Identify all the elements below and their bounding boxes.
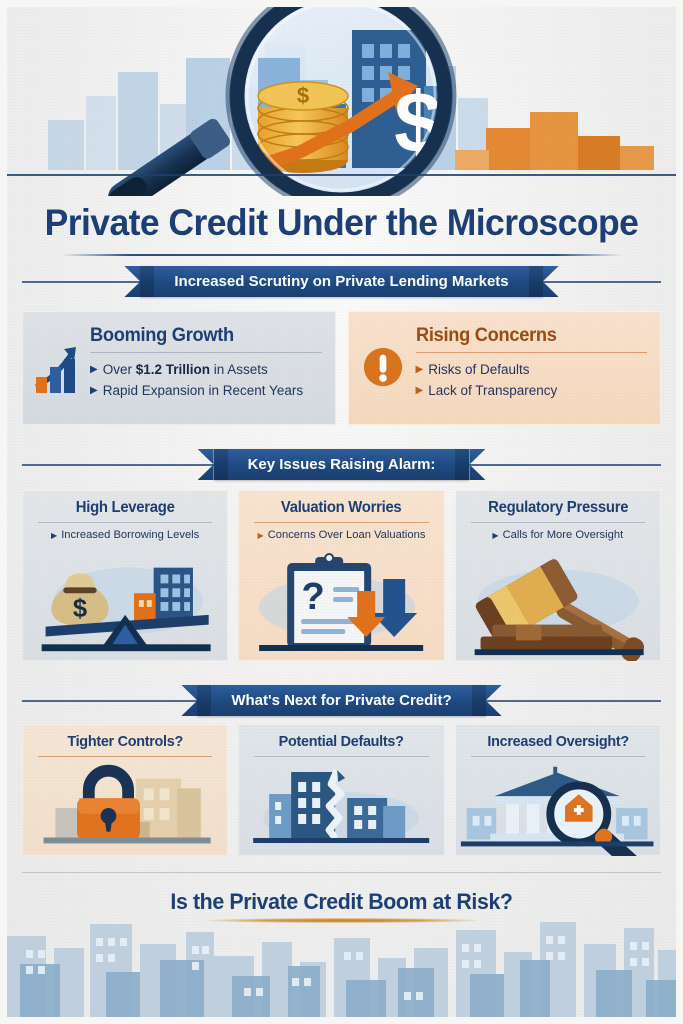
outlook-banner: What's Next for Private Credit? (197, 685, 485, 716)
bank-magnifier-icon (455, 764, 661, 856)
banner-line-left (22, 464, 214, 466)
svg-text:$: $ (73, 595, 87, 623)
card-divider (90, 352, 322, 353)
bullet-text: Rapid Expansion in Recent Years (103, 381, 303, 402)
card-bullet: ▶ Over $1.2 Trillion in Assets (90, 360, 322, 381)
bullet-triangle-icon: ▶ (416, 381, 424, 402)
infographic-page: $ $ Private Credit Under the Microscope … (0, 0, 683, 1024)
footer-divider (22, 872, 661, 873)
footer-underline-swoosh (207, 918, 477, 923)
panel-divider (38, 522, 212, 523)
outlook-title: Potential Defaults? (250, 733, 433, 750)
subtitle-banner-row: Increased Scrutiny on Private Lending Ma… (0, 266, 683, 297)
bullet-text: Risks of Defaults (428, 360, 529, 381)
bullet-text-strong: $1.2 Trillion (136, 362, 210, 377)
summary-cards: Booming Growth ▶ Over $1.2 Trillion in A… (0, 297, 683, 425)
banner-notch-left (214, 449, 228, 480)
bullet-triangle-icon: ▶ (492, 531, 498, 540)
bullet-text: Lack of Transparency (428, 381, 557, 402)
bar-chart-growth-icon (34, 325, 80, 411)
outlook-cards: Tighter Controls? (0, 716, 683, 856)
panel-title: Regulatory Pressure (468, 499, 647, 517)
footer-block: Is the Private Credit Boom at Risk? (0, 889, 683, 923)
title-underline (62, 254, 622, 256)
footer-city-skyline-icon (0, 914, 683, 1024)
card-rising-concerns: Rising Concerns ▶ Risks of Defaults ▶ La… (348, 311, 662, 425)
bullet-triangle-icon: ▶ (416, 360, 424, 381)
money-bag-seesaw-icon: $ (22, 549, 228, 661)
banner-notch-left (197, 685, 211, 716)
panel-bullet-text: Concerns Over Loan Valuations (268, 529, 426, 541)
panel-title: High Leverage (36, 499, 215, 517)
svg-text:?: ? (302, 576, 325, 618)
outlook-increased-oversight: Increased Oversight? (455, 724, 661, 856)
panel-bullet: ▶ Concerns Over Loan Valuations (248, 529, 434, 541)
key-issues-banner-row: Key Issues Raising Alarm: (0, 425, 683, 480)
outlook-banner-row: What's Next for Private Credit? (0, 661, 683, 716)
outlook-tighter-controls: Tighter Controls? (22, 724, 228, 856)
panel-bullet: ▶ Calls for More Oversight (465, 529, 651, 541)
title-block: Private Credit Under the Microscope (0, 202, 683, 256)
bullet-text-pre: Over (103, 362, 136, 377)
card-title: Booming Growth (90, 325, 312, 347)
panel-bullet-text: Calls for More Oversight (503, 529, 624, 541)
footer-question: Is the Private Credit Boom at Risk? (10, 889, 673, 915)
bullet-text-post: in Assets (210, 362, 268, 377)
outlook-title: Tighter Controls? (34, 733, 217, 750)
banner-line-left (22, 700, 197, 702)
banner-line-right (469, 464, 661, 466)
panel-divider (471, 522, 645, 523)
clipboard-question-down-arrows-icon: ? (238, 549, 444, 661)
card-booming-growth: Booming Growth ▶ Over $1.2 Trillion in A… (22, 311, 336, 425)
page-title: Private Credit Under the Microscope (14, 202, 670, 244)
exclamation-circle-icon (360, 325, 406, 411)
panel-bullet-text: Increased Borrowing Levels (61, 529, 199, 541)
banner-notch-right (472, 685, 486, 716)
banner-line-right (543, 281, 661, 283)
banner-notch-right (529, 266, 543, 297)
panel-title: Valuation Worries (252, 499, 431, 517)
padlock-buildings-icon (22, 764, 228, 856)
bullet-triangle-icon: ▶ (258, 531, 264, 540)
banner-notch-left (140, 266, 154, 297)
outlook-divider (254, 756, 428, 757)
panel-valuation-worries: Valuation Worries ▶ Concerns Over Loan V… (238, 490, 444, 661)
outlook-divider (471, 756, 645, 757)
outlook-potential-defaults: Potential Defaults? (238, 724, 444, 856)
card-bullet: ▶ Risks of Defaults (416, 360, 648, 381)
panel-high-leverage: High Leverage ▶ Increased Borrowing Leve… (22, 490, 228, 661)
bullet-triangle-icon: ▶ (51, 531, 57, 540)
key-issues-banner: Key Issues Raising Alarm: (214, 449, 470, 480)
svg-text:$: $ (297, 83, 309, 108)
panel-bullet: ▶ Increased Borrowing Levels (32, 529, 218, 541)
key-issue-panels: High Leverage ▶ Increased Borrowing Leve… (0, 480, 683, 661)
hero-illustration: $ $ (0, 0, 683, 196)
card-bullet: ▶ Rapid Expansion in Recent Years (90, 381, 322, 402)
outlook-divider (38, 756, 212, 757)
card-bullet: ▶ Lack of Transparency (416, 381, 648, 402)
outlook-title: Increased Oversight? (466, 733, 649, 750)
hero-baseline-rule (0, 174, 683, 176)
banner-line-right (486, 700, 661, 702)
outlook-banner-label: What's Next for Private Credit? (231, 692, 451, 709)
card-divider (416, 352, 648, 353)
panel-regulatory-pressure: Regulatory Pressure ▶ Calls for More Ove… (455, 490, 661, 661)
card-title: Rising Concerns (416, 325, 638, 347)
key-issues-banner-label: Key Issues Raising Alarm: (248, 456, 436, 473)
subtitle-banner: Increased Scrutiny on Private Lending Ma… (140, 266, 542, 297)
gavel-icon (455, 549, 661, 661)
bullet-triangle-icon: ▶ (90, 360, 98, 381)
bullet-triangle-icon: ▶ (90, 381, 98, 402)
banner-line-left (22, 281, 140, 283)
cracked-buildings-icon (238, 764, 444, 856)
panel-divider (254, 522, 428, 523)
banner-notch-right (455, 449, 469, 480)
subtitle-banner-label: Increased Scrutiny on Private Lending Ma… (174, 273, 508, 290)
